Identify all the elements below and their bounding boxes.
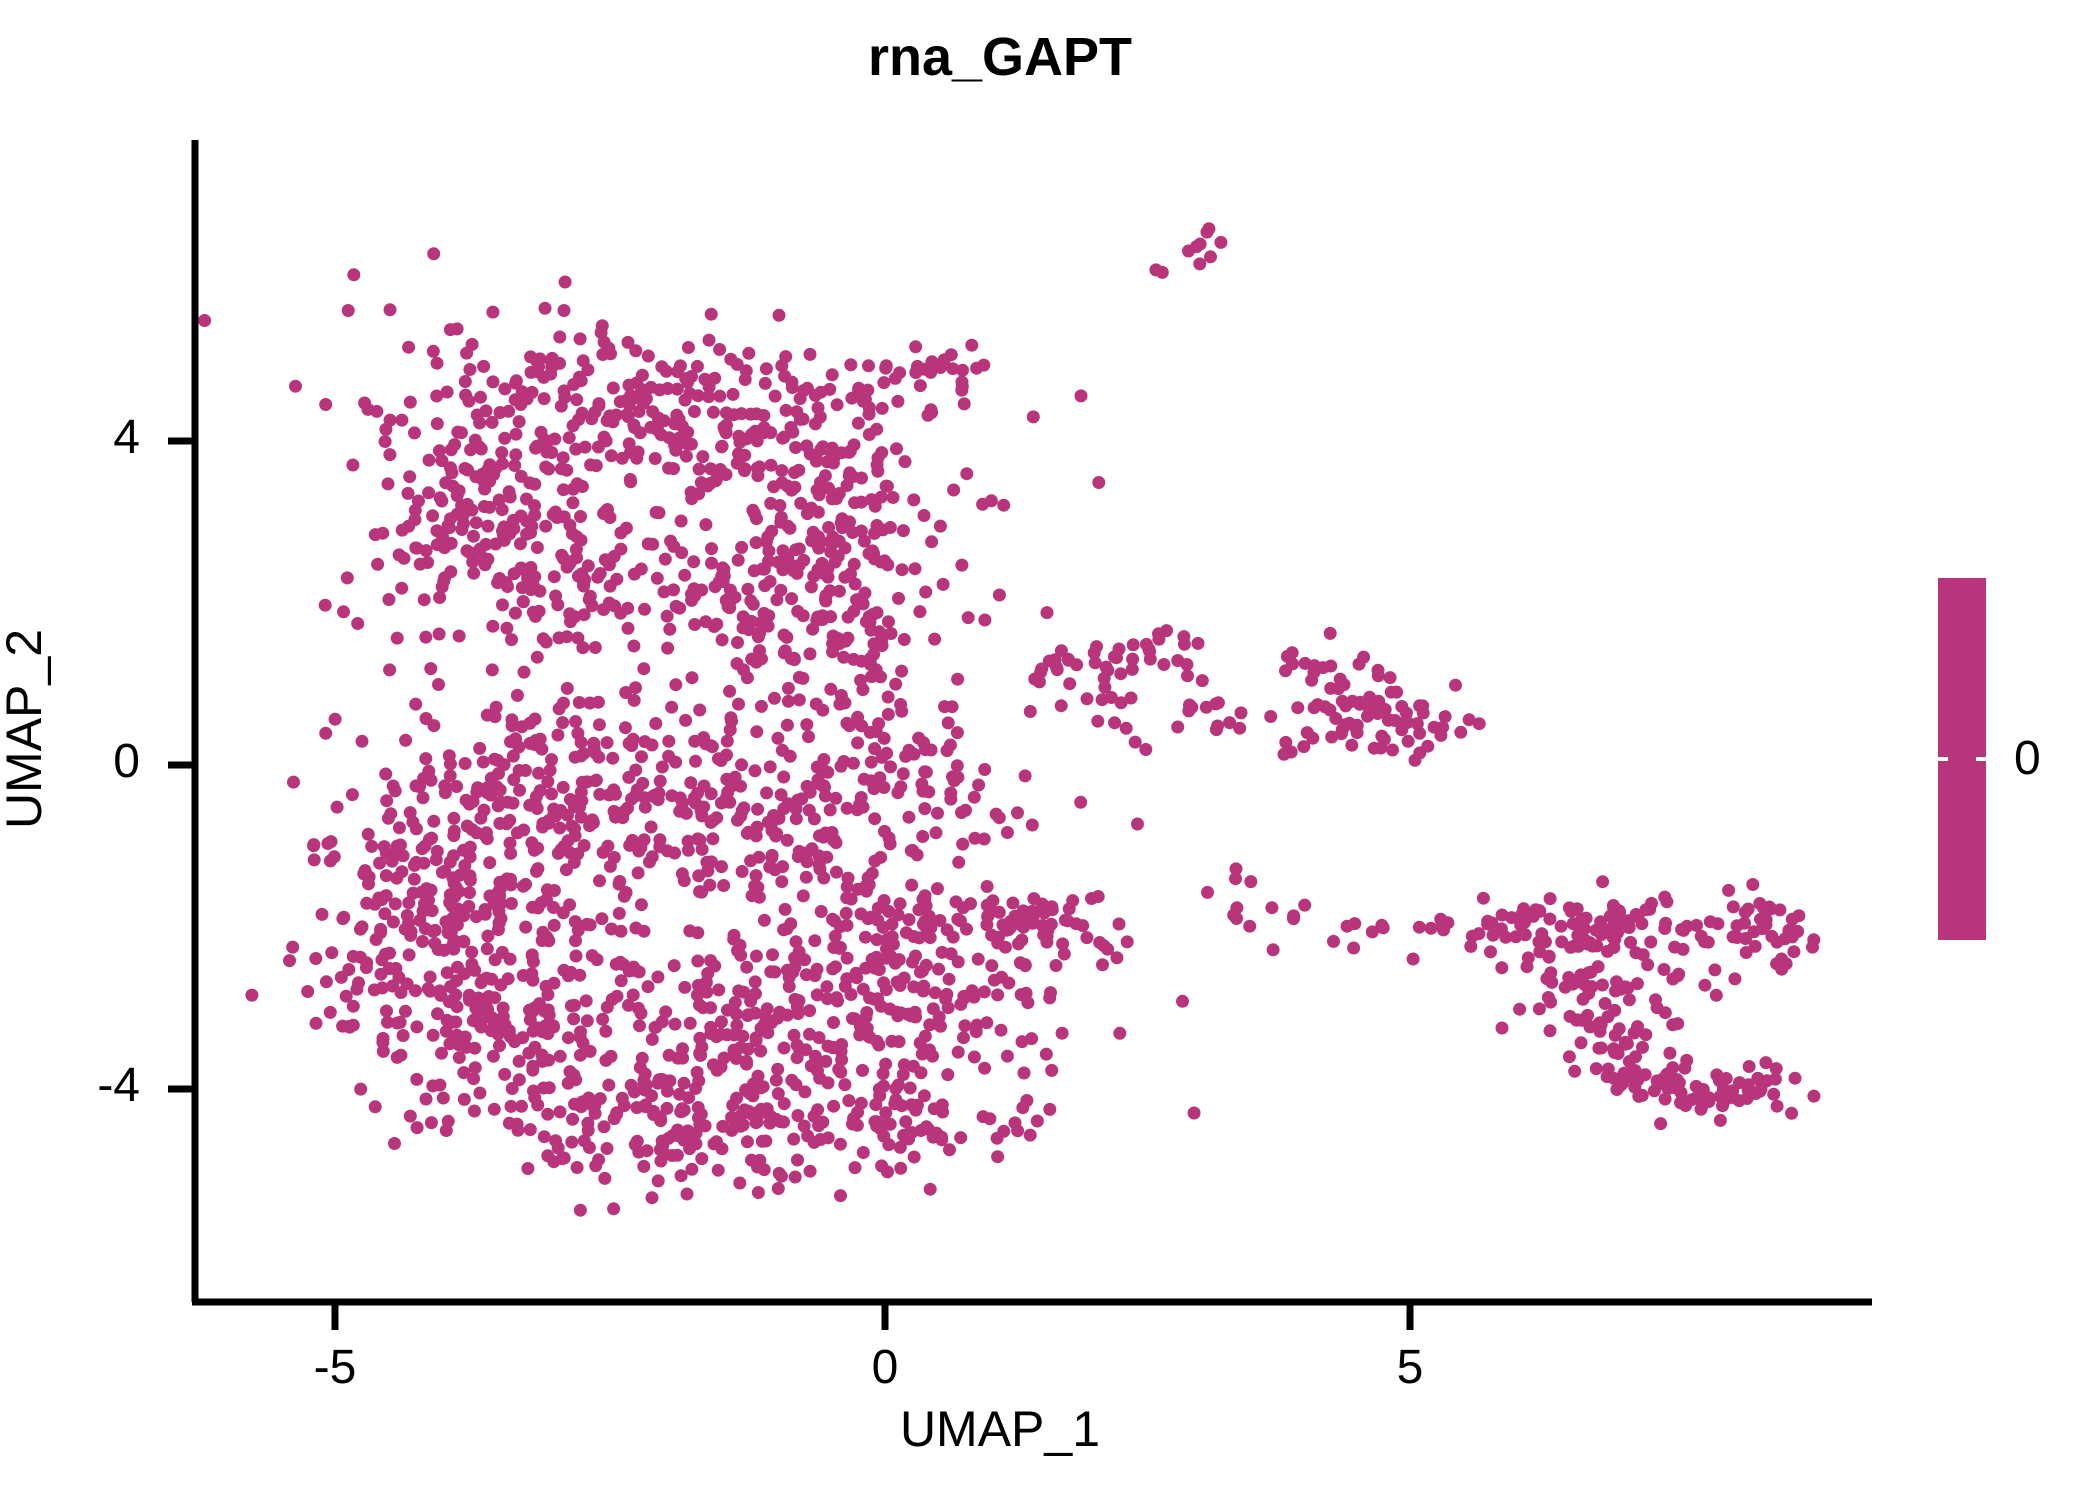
y-axis-title: UMAP_2 <box>0 529 53 929</box>
y-tick-label-4: 4 <box>20 410 140 465</box>
x-tick-label-neg5: -5 <box>255 1340 415 1395</box>
x-axis-title: UMAP_1 <box>0 1400 2000 1458</box>
legend-tick-label: 0 <box>2014 731 2041 786</box>
umap-feature-plot: rna_GAPT 4 0 -4 -5 0 5 UMAP_1 UMAP_2 0 <box>0 0 2100 1500</box>
x-tick-label-0: 0 <box>805 1340 965 1395</box>
scatter-plot-canvas <box>0 0 2100 1500</box>
y-tick-label-neg4: -4 <box>20 1058 140 1113</box>
legend-colorbar[interactable] <box>1938 578 1986 940</box>
x-tick-label-5: 5 <box>1330 1340 1490 1395</box>
scatter-points-layer <box>198 222 1820 1216</box>
